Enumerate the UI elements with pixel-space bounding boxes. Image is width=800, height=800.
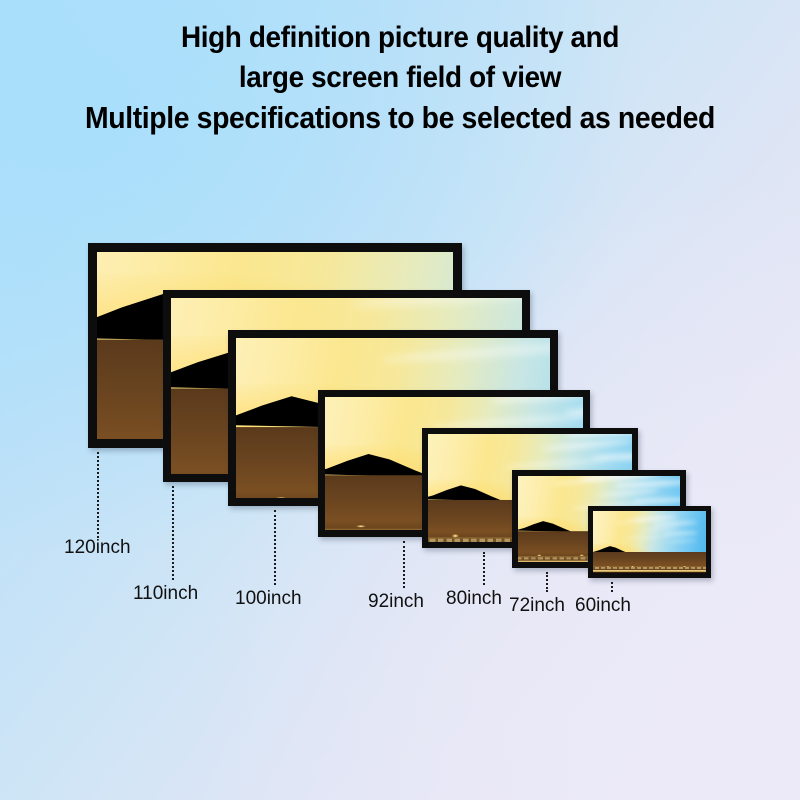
leader-line-72inch [546, 572, 548, 592]
headline-line-3: Multiple specifications to be selected a… [28, 98, 772, 138]
leader-line-80inch [483, 552, 485, 585]
poster-canvas: High definition picture quality and larg… [0, 0, 800, 800]
screen-artwork [593, 511, 706, 573]
size-label-100inch: 100inch [235, 589, 302, 609]
headline-line-1: High definition picture quality and [28, 18, 772, 58]
screen-60inch[interactable] [588, 506, 711, 578]
leader-line-110inch [172, 486, 174, 580]
leader-line-120inch [97, 452, 99, 538]
headline-block: High definition picture quality and larg… [0, 18, 800, 138]
screen-panel-60inch [593, 511, 706, 573]
leader-line-60inch [611, 582, 613, 592]
leader-line-100inch [274, 510, 276, 585]
size-label-120inch: 120inch [64, 538, 131, 558]
size-label-72inch: 72inch [509, 596, 565, 616]
leader-line-92inch [403, 541, 405, 588]
size-label-110inch: 110inch [133, 584, 198, 604]
railing [593, 566, 706, 569]
pavilion-structure [593, 552, 706, 573]
size-label-60inch: 60inch [575, 596, 631, 616]
size-label-80inch: 80inch [446, 589, 502, 609]
foreground-base [593, 572, 706, 573]
size-label-92inch: 92inch [368, 592, 424, 612]
headline-line-2: large screen field of view [28, 58, 772, 98]
